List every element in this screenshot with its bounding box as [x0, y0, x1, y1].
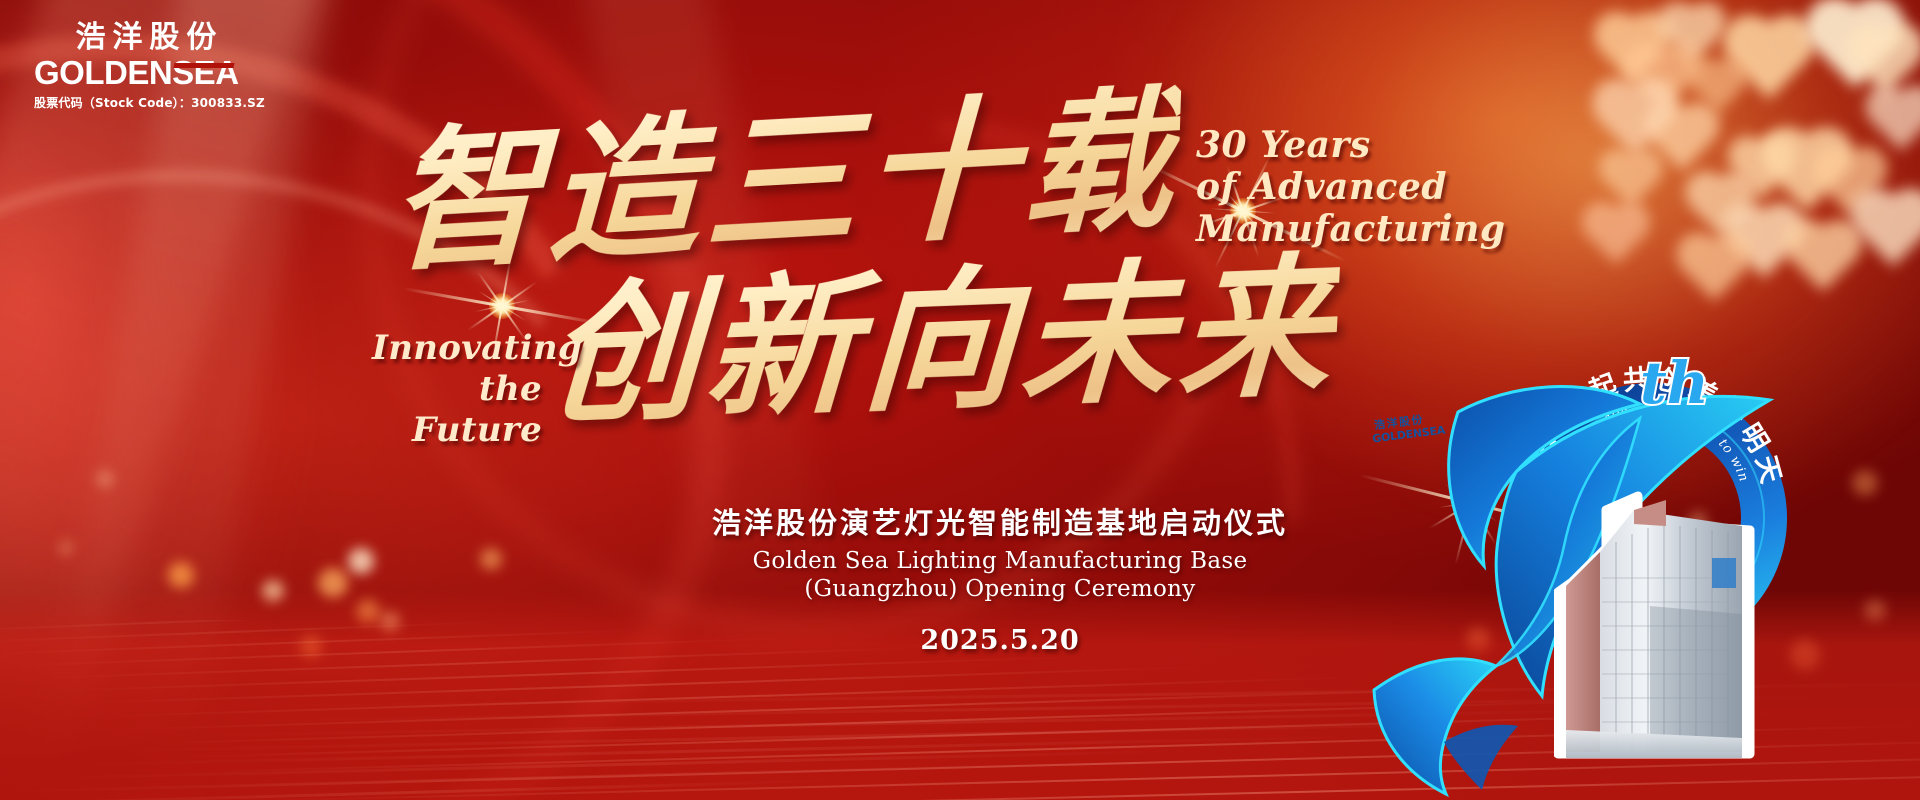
stock-code-label: 股票代码（Stock Code）：300833.SZ: [34, 94, 265, 111]
headline-english-right: 30 Years of Advanced Manufacturing: [1196, 125, 1506, 250]
headline-english-left: Innovating the Future: [372, 328, 542, 450]
company-logo[interactable]: 浩洋股份 GOLDENSEA 股票代码（Stock Code）：300833.S…: [34, 22, 265, 111]
floor-line: [68, 735, 1388, 767]
swoosh-arc-2: [0, 126, 674, 800]
headline-en-right-line-2: of Advanced: [1196, 167, 1506, 209]
heart-bokeh: [1588, 208, 1645, 265]
heart-bokeh: [1604, 154, 1658, 208]
sparkle-ray: [1214, 154, 1271, 269]
heart-bokeh: [1731, 23, 1807, 99]
heart-bokeh: [1814, 6, 1896, 88]
floor-line: [0, 620, 360, 632]
floor-line: [32, 749, 1212, 780]
light-bokeh: [262, 580, 284, 602]
swoosh-arc-3: [0, 0, 881, 800]
sparkle-ray: [1221, 187, 1265, 236]
sparkle-star-top: [1128, 96, 1358, 326]
headline-en-right-line-1: 30 Years: [1196, 125, 1506, 167]
headline-en-left-line-1: Innovating: [372, 328, 542, 369]
floor-line: [94, 676, 1353, 717]
light-bokeh: [348, 548, 374, 574]
floor-line: [0, 764, 1036, 794]
sparkle-ray: [474, 300, 529, 313]
sparkle-ray: [478, 291, 526, 322]
heart-bokeh: [1734, 142, 1791, 199]
light-bokeh: [318, 568, 348, 598]
light-bokeh: [480, 548, 502, 570]
sparkle-ray: [491, 252, 512, 361]
sparkle-ray: [1211, 208, 1275, 214]
light-beam-a: [0, 0, 333, 798]
heart-bokeh: [1600, 18, 1665, 83]
light-bokeh: [96, 470, 114, 488]
light-beam-b: [36, 0, 354, 800]
subtitle-cn: 浩洋股份演艺灯光智能制造基地启动仪式: [560, 505, 1440, 541]
sparkle-core: [489, 293, 515, 319]
heart-bokeh: [1631, 49, 1693, 111]
logo-name-cn: 浩洋股份: [34, 22, 265, 54]
headquarters-building-icon: [1554, 486, 1768, 762]
ordinal-th-text: th: [1640, 349, 1709, 417]
floor-line: [0, 629, 644, 655]
light-bokeh: [168, 562, 194, 588]
heart-bokeh: [1730, 210, 1798, 278]
promotional-banner: 浩洋股份 GOLDENSEA 股票代码（Stock Code）：300833.S…: [0, 0, 1920, 800]
heart-bokeh: [1691, 177, 1750, 236]
logo-name-en-prefix: GOLDEN: [34, 56, 172, 89]
subtitle-en: Golden Sea Lighting Manufacturing Base (…: [560, 547, 1440, 603]
heart-bokeh: [1790, 226, 1855, 291]
floor-line: [50, 656, 1070, 692]
headline-line-2-cn: 创新向未来: [543, 203, 1343, 454]
floor-line: [116, 687, 1495, 730]
heart-bokeh: [1871, 91, 1920, 150]
light-bokeh: [300, 636, 322, 658]
sparkle-ray: [1197, 195, 1289, 228]
light-bokeh: [356, 600, 380, 624]
heart-bokeh: [1651, 109, 1713, 171]
heart-bokeh: [1858, 196, 1920, 267]
subtitle-en-line-2: (Guangzhou) Opening Ceremony: [560, 575, 1440, 603]
swoosh-arc-4: [243, 0, 1377, 757]
floor-line: [0, 778, 860, 800]
right-graphic-composition: 爱在一起共创美好明天 lovely day always together to…: [1340, 360, 1920, 800]
swoosh-arc-5: [383, 0, 1456, 800]
sparkle-star-left: [402, 206, 602, 406]
floor-line: [0, 621, 502, 643]
headline-line-1-cn: 智造三十载: [387, 36, 1183, 301]
heart-bokeh: [1819, 153, 1881, 215]
light-bokeh: [58, 540, 74, 556]
light-beam-c: [548, 0, 852, 703]
event-date: 2025.5.20: [560, 625, 1440, 656]
headline-en-right-line-3: Manufacturing: [1196, 209, 1506, 251]
floor-line: [28, 646, 928, 679]
silk-drape-left: [0, 0, 770, 779]
heart-bokeh: [1693, 63, 1744, 114]
heart-bokeh: [1664, 8, 1721, 65]
floor-line: [6, 637, 786, 666]
sparkle-ray: [1227, 165, 1260, 257]
logo-name-en-suffix: SEA: [172, 56, 238, 89]
sparkle-ray: [403, 287, 600, 325]
sparkle-ray: [477, 271, 526, 341]
headline-en-left-line-2: the Future: [372, 369, 542, 451]
light-bokeh: [380, 612, 400, 632]
heart-bokeh: [1683, 239, 1745, 301]
ordinal-th-mark: th: [1640, 354, 1709, 412]
heart-bokeh: [1600, 86, 1671, 157]
heart-bokeh: [1852, 30, 1917, 95]
heart-bokeh: [1769, 135, 1845, 211]
subtitle-en-line-1: Golden Sea Lighting Manufacturing Base: [560, 547, 1440, 575]
sparkle-core: [1230, 198, 1256, 224]
floor-line: [72, 666, 1211, 705]
sparkle-ray: [467, 281, 537, 330]
swoosh-arc-1: [0, 0, 725, 800]
logo-name-en: GOLDENSEA: [34, 56, 265, 89]
sparkle-ray: [1139, 159, 1347, 263]
